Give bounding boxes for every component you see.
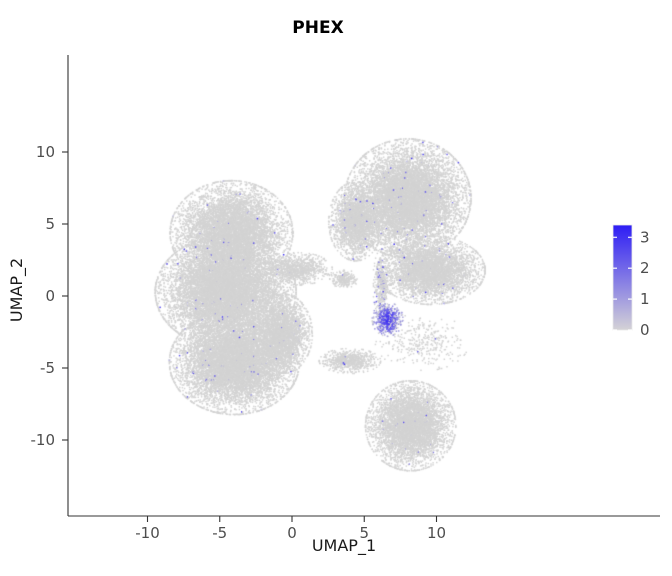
- y-axis-title: UMAP_2: [7, 258, 27, 322]
- colorbar-gradient: [613, 225, 632, 330]
- x-tick-label: 10: [427, 524, 446, 542]
- colorbar-tick-label: 0: [640, 321, 650, 339]
- y-tick-label: 0: [45, 287, 55, 305]
- scatter-point-cloud: [0, 0, 672, 576]
- y-tick-label: -5: [40, 359, 55, 377]
- colorbar-tick-label: 2: [640, 259, 650, 277]
- umap-feature-plot-figure: PHEX -10-50510 1050-5-10 UMAP_1 UMAP_2 3…: [0, 0, 672, 576]
- y-tick-label: 5: [45, 215, 55, 233]
- colorbar-tick-label: 3: [640, 228, 650, 246]
- x-tick-label: -5: [212, 524, 227, 542]
- x-tick-label: -10: [135, 524, 160, 542]
- y-tick-label: -10: [31, 431, 56, 449]
- y-tick-label: 10: [36, 143, 55, 161]
- x-tick-label: 0: [287, 524, 297, 542]
- scatter-points-layer: [0, 0, 672, 576]
- colorbar-tick-label: 1: [640, 290, 650, 308]
- x-axis-title: UMAP_1: [312, 536, 376, 556]
- plot-canvas: PHEX -10-50510 1050-5-10 UMAP_1 UMAP_2 3…: [0, 0, 672, 576]
